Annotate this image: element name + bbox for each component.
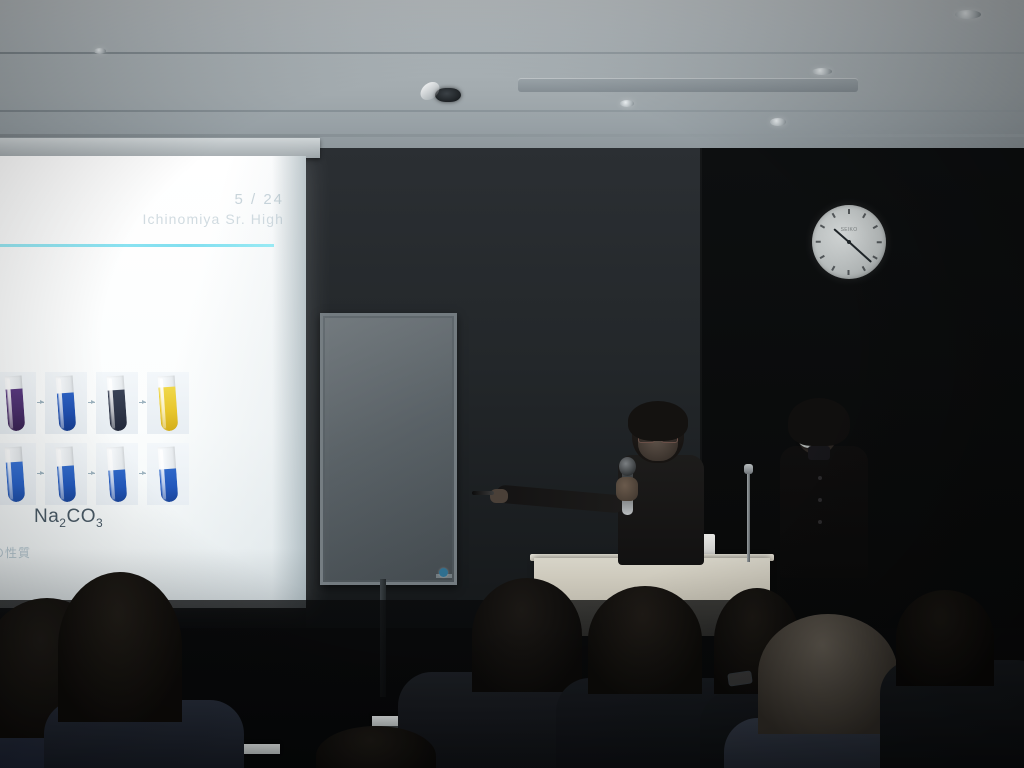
ceiling-light — [770, 118, 786, 126]
whiteboard-surface — [325, 318, 452, 580]
ceiling-speaker-icon — [435, 88, 461, 102]
test-tube-grid — [0, 372, 190, 514]
tube-blue-icon — [56, 375, 77, 431]
tube-yellow-icon — [158, 375, 179, 431]
reaction-arrow-icon — [139, 473, 146, 474]
attendant-collar — [808, 446, 830, 460]
microphone-stand-head — [744, 464, 753, 474]
test-tube-cell — [0, 372, 36, 434]
audience-gray-hair-head — [758, 614, 898, 734]
presenter-hair — [628, 401, 688, 441]
clock-minute-hand — [848, 241, 872, 263]
audience-far-right-head — [896, 590, 994, 686]
chemical-formula: Na2CO3 — [34, 506, 103, 530]
presenter-mic-hand — [616, 477, 638, 501]
ceiling — [0, 0, 1024, 152]
microphone-head-icon — [619, 457, 636, 476]
audience-center-head — [588, 586, 702, 694]
projection-screen: 5 / 24 Ichinomiya Sr. High — [0, 156, 306, 608]
clock-brand-label: SEIKO — [841, 227, 858, 233]
slide-header: 5 / 24 Ichinomiya Sr. High — [142, 190, 284, 228]
test-tube-row — [0, 443, 190, 505]
attendant-torso — [780, 446, 868, 578]
whiteboard — [320, 313, 457, 585]
test-tube-cell — [45, 443, 87, 505]
test-tube-cell — [0, 443, 36, 505]
test-tube-cell — [96, 372, 138, 434]
slide-page-number: 5 / 24 — [142, 190, 284, 210]
slide-school-name: Ichinomiya Sr. High — [142, 210, 284, 228]
ceiling-light — [94, 48, 106, 54]
tube-blue-4-icon — [158, 446, 179, 502]
lecture-hall-photo: SEIKO 5 / 24 Ichinomiya Sr. High — [0, 0, 1024, 768]
reaction-arrow-icon — [37, 402, 44, 403]
reaction-arrow-icon — [37, 473, 44, 474]
audience-center-left-head — [472, 578, 582, 692]
tube-dark-slate-icon — [107, 375, 128, 431]
tube-blue-1-icon — [5, 446, 26, 502]
ceiling-light — [955, 10, 981, 19]
wall-clock: SEIKO — [812, 205, 886, 279]
tube-blue-3-icon — [107, 446, 128, 502]
test-tube-row — [0, 372, 190, 434]
ceiling-seam — [0, 52, 1024, 54]
screen-roller-housing — [0, 138, 320, 158]
ceiling-seam — [0, 134, 1024, 137]
laser-pointer-icon — [472, 491, 494, 495]
masked-attendant — [778, 398, 870, 578]
formula-na: Na — [34, 506, 59, 527]
presenter — [600, 405, 720, 565]
slide-accent-rule — [0, 244, 274, 247]
microphone-stand — [747, 470, 750, 562]
ceiling-vent — [518, 78, 858, 92]
test-tube-cell — [147, 443, 189, 505]
reaction-arrow-icon — [88, 473, 95, 474]
ceiling-seam — [0, 110, 1024, 112]
test-tube-cell — [147, 372, 189, 434]
test-tube-cell — [96, 443, 138, 505]
attendant-hair — [788, 398, 850, 446]
tube-purple-icon — [5, 375, 26, 431]
reaction-arrow-icon — [88, 402, 95, 403]
ceiling-light — [812, 68, 832, 75]
formula-sub-3: 3 — [96, 516, 103, 530]
clock-center-pin — [847, 240, 851, 244]
tube-blue-2-icon — [56, 446, 77, 502]
audience-left-head — [58, 572, 182, 722]
reaction-arrow-icon — [139, 402, 146, 403]
slide-surface: 5 / 24 Ichinomiya Sr. High — [0, 156, 306, 608]
screen-shading — [272, 156, 306, 608]
test-tube-cell — [45, 372, 87, 434]
formula-co: CO — [66, 506, 96, 527]
ceiling-light — [620, 100, 634, 107]
whiteboard-logo-icon — [439, 568, 448, 577]
